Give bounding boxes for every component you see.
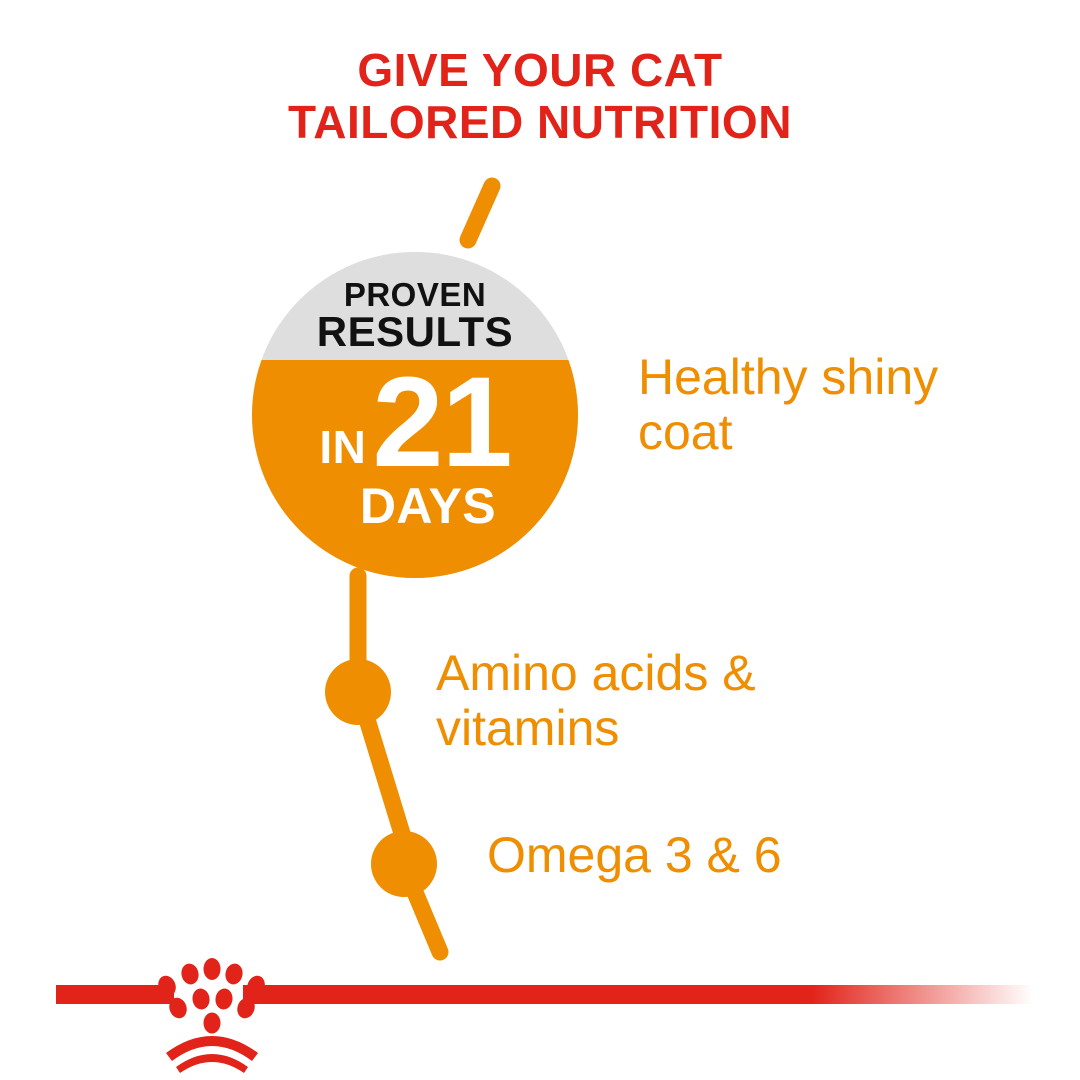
crown-dot-7	[191, 987, 211, 1010]
badge-days-number: 21	[372, 364, 510, 482]
headline-line-2: TAILORED NUTRITION	[0, 96, 1080, 148]
connector-segment-mid	[358, 690, 404, 840]
badge-days-label: DAYS	[252, 480, 578, 532]
promo-canvas: GIVE YOUR CAT TAILORED NUTRITION PROVEN …	[0, 0, 1080, 1080]
crown-dot-8	[214, 987, 234, 1010]
footer-bar-left	[56, 985, 174, 1004]
connector-node-1	[325, 659, 391, 725]
crown-dot-2	[180, 962, 201, 986]
benefit-item-amino-acids-vitamins: Amino acids & vitamins	[436, 646, 866, 756]
brand-footer	[0, 955, 1080, 1080]
royal-canin-crown-logo	[155, 958, 268, 1073]
crown-arc-inner	[176, 1054, 248, 1073]
badge-in-label: IN	[319, 424, 366, 482]
badge-duration-row: IN 21	[252, 364, 578, 482]
crown-dot-3	[204, 958, 221, 980]
benefit-item-omega-3-6: Omega 3 & 6	[487, 828, 907, 883]
connector-top-stem	[468, 186, 492, 240]
connector-node-2	[371, 831, 437, 897]
crown-dot-10	[204, 1013, 221, 1034]
badge-proven-label: PROVEN	[252, 278, 578, 312]
page-title: GIVE YOUR CAT TAILORED NUTRITION	[0, 44, 1080, 148]
badge-results-label: RESULTS	[252, 310, 578, 354]
proven-results-badge: PROVEN RESULTS IN 21 DAYS	[252, 252, 578, 578]
crown-dot-4	[224, 962, 245, 986]
headline-line-1: GIVE YOUR CAT	[0, 44, 1080, 96]
benefit-item-healthy-shiny-coat: Healthy shiny coat	[638, 350, 1038, 460]
connector-segment-bottom	[404, 866, 440, 952]
footer-bar-right	[243, 985, 1033, 1004]
